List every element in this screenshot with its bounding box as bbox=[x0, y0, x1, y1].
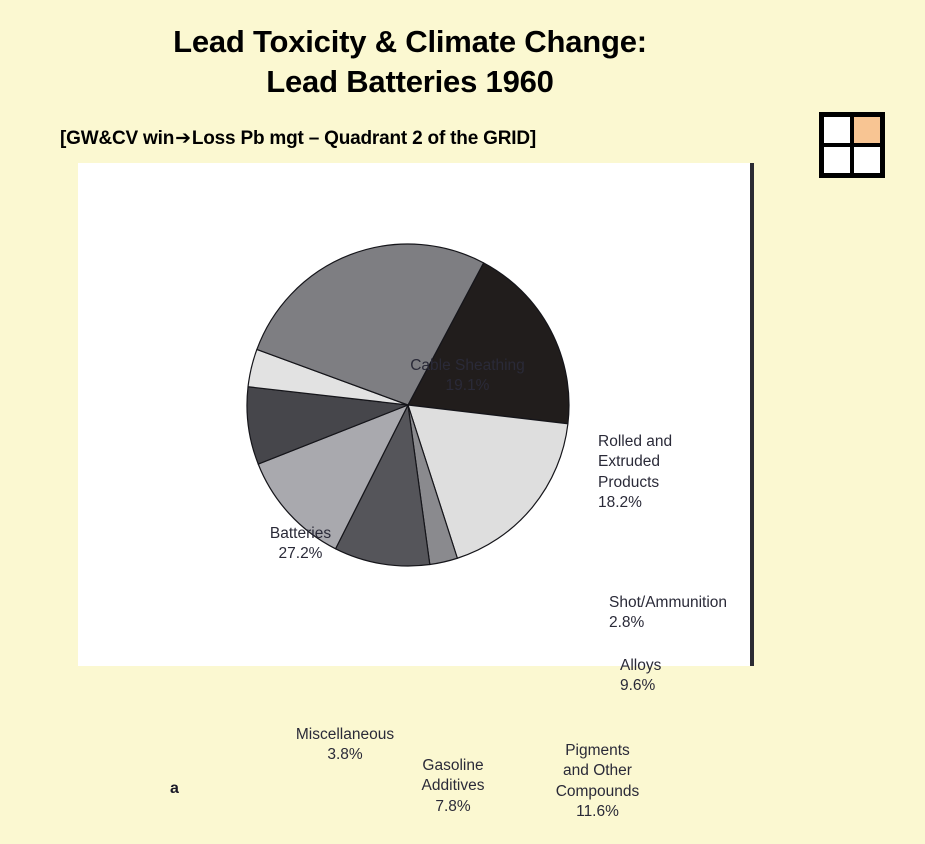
grid-cell-top-right bbox=[854, 117, 880, 143]
pie-label-cable-sheathing-value: 19.1% bbox=[340, 376, 595, 397]
quadrant-grid-icon[interactable] bbox=[819, 112, 885, 178]
pie-label-alloys: Alloys 9.6% bbox=[620, 635, 760, 717]
panel-right-divider bbox=[750, 163, 754, 666]
pie-label-batteries: Batteries 27.2% bbox=[228, 503, 373, 585]
pie-label-pigments-name: Pigments and Other Compounds bbox=[556, 742, 640, 800]
pie-label-batteries-value: 27.2% bbox=[228, 544, 373, 565]
pie-label-shot-ammunition-value: 2.8% bbox=[609, 613, 784, 634]
pie-label-batteries-name: Batteries bbox=[270, 525, 331, 542]
panel-figure-tag: a bbox=[170, 780, 179, 798]
pie-label-pigments: Pigments and Other Compounds 11.6% bbox=[510, 720, 685, 844]
pie-label-rolled-extruded-name: Rolled and Extruded Products bbox=[598, 433, 672, 491]
slide-subtitle: [GW&CV win➔Loss Pb mgt – Quadrant 2 of t… bbox=[60, 127, 536, 150]
slide-title-block: Lead Toxicity & Climate Change: Lead Bat… bbox=[0, 22, 820, 101]
subtitle-suffix: Loss Pb mgt – Quadrant 2 of the GRID] bbox=[192, 128, 536, 149]
pie-label-rolled-extruded: Rolled and Extruded Products 18.2% bbox=[598, 411, 763, 535]
pie-label-alloys-name: Alloys bbox=[620, 657, 661, 674]
pie-label-miscellaneous-value: 3.8% bbox=[270, 745, 420, 766]
pie-label-pigments-value: 11.6% bbox=[510, 802, 685, 823]
pie-label-gasoline-additives-value: 7.8% bbox=[378, 797, 528, 818]
page-title-line-2: Lead Batteries 1960 bbox=[0, 62, 820, 102]
pie-label-rolled-extruded-value: 18.2% bbox=[598, 493, 763, 514]
grid-cell-top-left bbox=[824, 117, 850, 143]
pie-label-gasoline-additives-name: Gasoline Additives bbox=[422, 757, 485, 795]
subtitle-prefix: [GW&CV win bbox=[60, 128, 174, 149]
page-title-line-1: Lead Toxicity & Climate Change: bbox=[0, 22, 820, 62]
grid-cell-bottom-left bbox=[824, 147, 850, 173]
grid-cell-bottom-right bbox=[854, 147, 880, 173]
pie-label-cable-sheathing: Cable Sheathing 19.1% bbox=[340, 335, 595, 417]
right-arrow-icon: ➔ bbox=[174, 127, 192, 149]
chart-panel: Cable Sheathing 19.1% Rolled and Extrude… bbox=[78, 163, 753, 666]
pie-label-cable-sheathing-name: Cable Sheathing bbox=[410, 357, 525, 374]
pie-label-shot-ammunition-name: Shot/Ammunition bbox=[609, 594, 727, 611]
pie-label-miscellaneous-name: Miscellaneous bbox=[296, 726, 394, 743]
pie-label-alloys-value: 9.6% bbox=[620, 676, 760, 697]
pie-label-miscellaneous: Miscellaneous 3.8% bbox=[270, 704, 420, 786]
